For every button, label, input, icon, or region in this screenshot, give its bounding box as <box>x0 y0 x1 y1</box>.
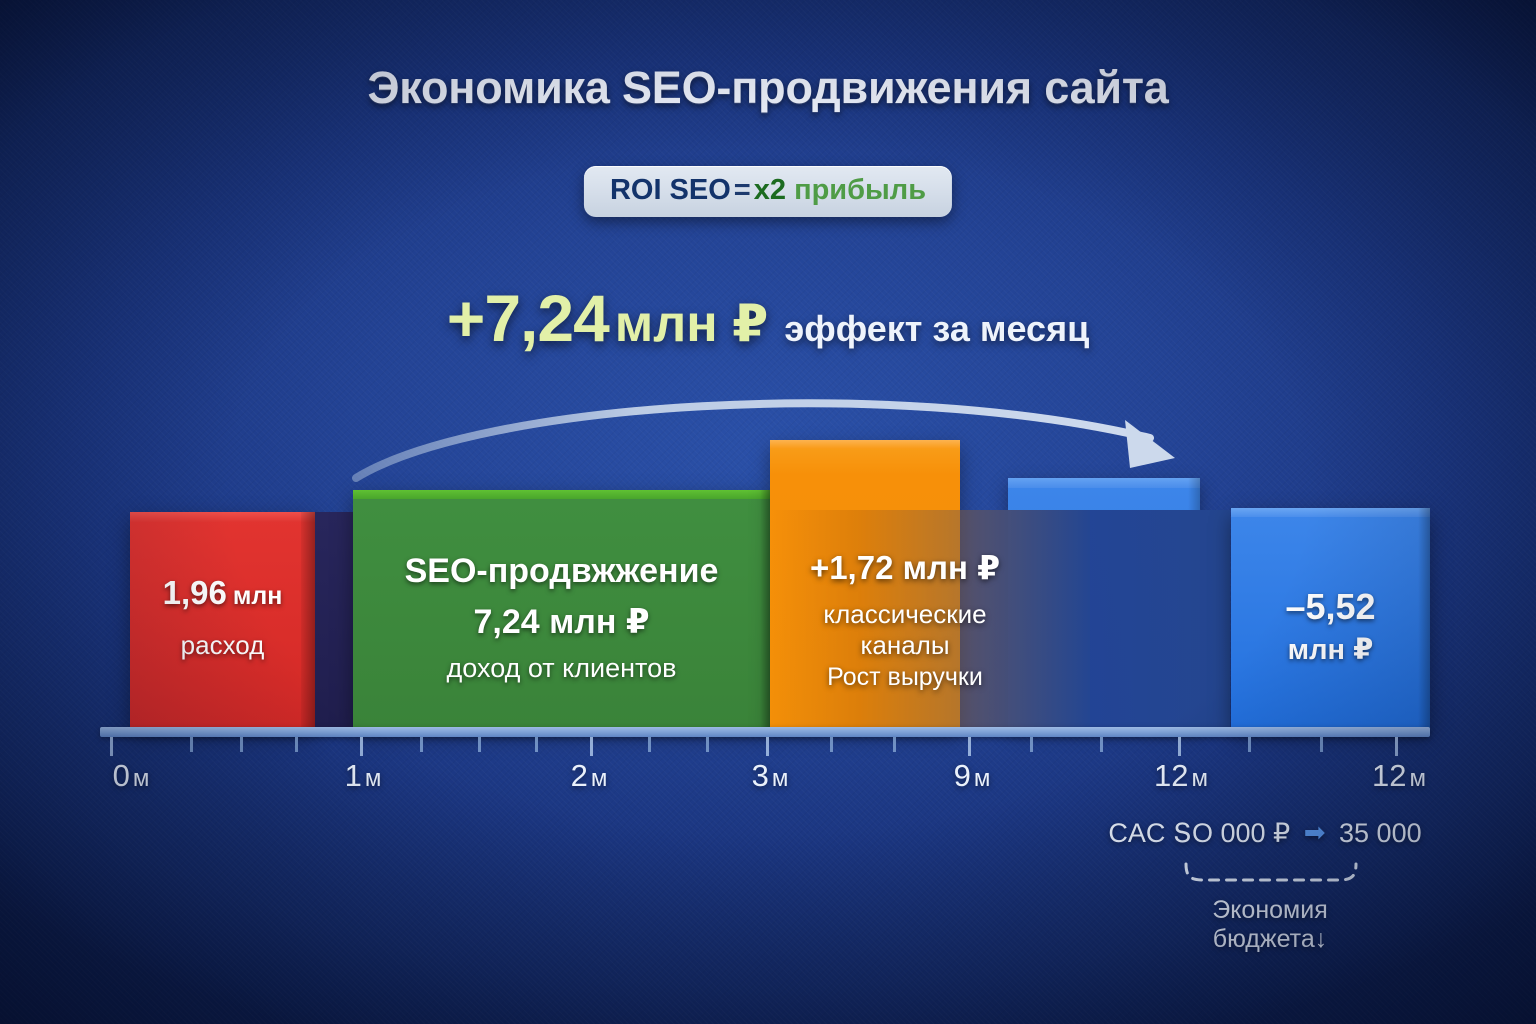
infographic-poster: Экономика SEO-продвижения сайта ROI SEO=… <box>0 0 1536 1024</box>
bar-net-savings-value: –5,52 <box>1231 586 1430 628</box>
savings-brace <box>1182 862 1360 886</box>
cac-value-from: ՏO 000 ₽ <box>1173 818 1290 848</box>
axis-tick <box>968 737 971 756</box>
axis-tick <box>1320 737 1323 752</box>
savings-note-line2: бюджета↓ <box>1120 925 1420 954</box>
effect-headline: +7,24млн ₽эффект за месяц <box>0 285 1536 351</box>
axis-tick <box>706 737 709 752</box>
bar-seo-side <box>760 490 770 728</box>
axis-tick <box>1100 737 1103 752</box>
bar-expense-side <box>301 512 315 728</box>
savings-note: Экономия бюджета↓ <box>1120 896 1420 954</box>
axis-tick <box>830 737 833 752</box>
axis-tick <box>295 737 298 752</box>
axis-tick <box>1178 737 1181 756</box>
axis-tick <box>590 737 593 756</box>
roi-badge-multiplier: x2 <box>754 174 786 206</box>
bar-classic-fade <box>770 510 1090 728</box>
bar-gap[interactable] <box>315 512 353 728</box>
axis-tick <box>648 737 651 752</box>
axis-line <box>100 727 1430 737</box>
axis-tick <box>110 737 113 756</box>
headline-unit: млн ₽ <box>615 295 769 353</box>
roi-badge-equals: = <box>731 174 754 206</box>
axis-tick <box>1030 737 1033 752</box>
headline-amount: +7,24 <box>447 281 609 355</box>
axis-tick <box>1248 737 1251 752</box>
bar-seo-value: 7,24 млн ₽ <box>353 602 770 642</box>
axis-tick <box>240 737 243 752</box>
axis-tick <box>190 737 193 752</box>
axis-label-3m: 3м <box>752 758 789 794</box>
axis-label-0m: 0м <box>113 758 150 794</box>
bar-seo-cap <box>353 490 770 499</box>
savings-note-line1: Экономия <box>1120 896 1420 925</box>
bar-seo-caption: доход от клиентов <box>353 653 770 684</box>
right-arrow-icon: ➡ <box>1304 817 1326 848</box>
axis-tick <box>478 737 481 752</box>
page-title: Экономика SEO-продвижения сайта <box>0 62 1536 114</box>
cac-value-to: 35 000 <box>1339 818 1422 848</box>
axis-label-9m: 9м <box>954 758 991 794</box>
bar-expense-value: 1,96млн <box>130 574 315 612</box>
axis-tick <box>893 737 896 752</box>
axis-label-12m-a: 12м <box>1154 758 1208 794</box>
roi-badge: ROI SEO=x2 прибыль <box>584 166 952 217</box>
axis-tick <box>360 737 363 756</box>
bar-seo-heading: SEO-продвжжение <box>353 552 770 591</box>
roi-badge-tail: прибыль <box>794 174 926 206</box>
bar-expense-caption: расход <box>130 630 315 661</box>
bar-net-savings-cap <box>1231 508 1430 517</box>
bar-net-savings[interactable]: –5,52 млн ₽ <box>1231 508 1430 728</box>
bar-net-savings-caption: млн ₽ <box>1231 632 1430 667</box>
bar-seo[interactable]: SEO-продвжжение 7,24 млн ₽ доход от клие… <box>353 490 770 728</box>
bar-expense-cap <box>130 512 315 522</box>
axis-tick <box>420 737 423 752</box>
cac-label: CAC <box>1108 818 1165 848</box>
axis-tick <box>766 737 769 756</box>
axis-tick <box>1395 737 1398 756</box>
axis-label-2m: 2м <box>571 758 608 794</box>
bar-plateau-cap <box>1008 478 1200 488</box>
bar-expense[interactable]: 1,96млн расход <box>130 512 315 728</box>
cac-summary: CAC ՏO 000 ₽ ➡ 35 000 <box>1075 818 1455 849</box>
headline-suffix: эффект за месяц <box>784 308 1089 349</box>
axis-label-12m-b: 12м <box>1372 758 1426 794</box>
bar-classic-cap <box>770 440 960 449</box>
bar-net-savings-side <box>1418 508 1430 728</box>
roi-badge-label: ROI SEO <box>610 174 731 206</box>
axis-tick <box>535 737 538 752</box>
axis-label-1m: 1м <box>345 758 382 794</box>
